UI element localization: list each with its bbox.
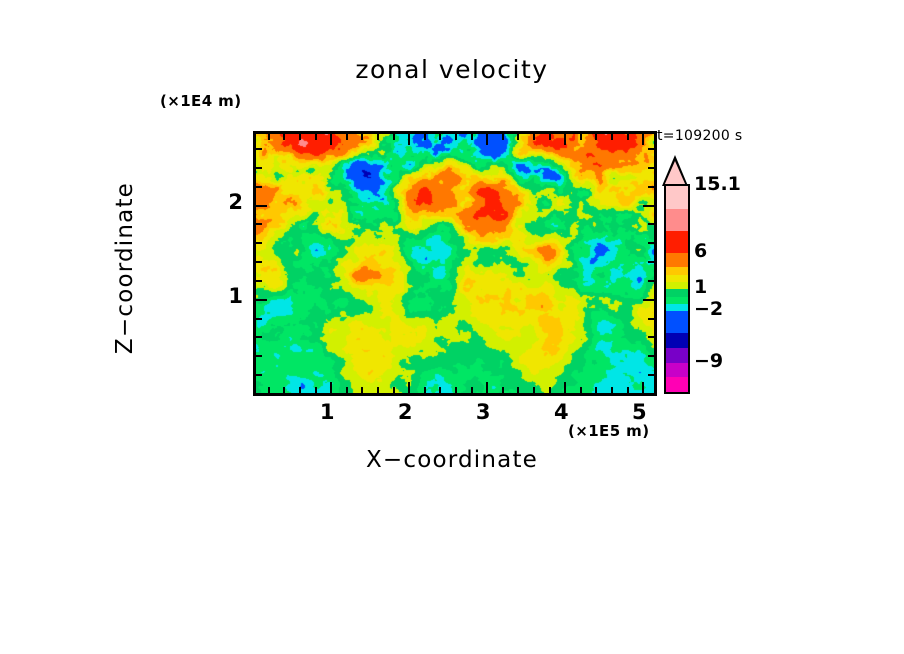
y-tick-label: 2 [219,190,243,214]
y-minor-tick [256,242,262,244]
x-minor-tick [595,134,597,140]
x-minor-tick [533,387,535,393]
x-minor-tick [580,387,582,393]
colorbar-tick-label: 15.1 [694,173,741,195]
y-minor-tick [256,223,262,225]
x-minor-tick [439,134,441,140]
x-minor-tick [346,134,348,140]
y-major-tick [256,205,267,207]
x-minor-tick [361,134,363,140]
x-minor-tick [283,387,285,393]
colorbar-band [666,348,688,363]
y-minor-tick [648,280,654,282]
colorbar-band [666,333,688,348]
x-major-tick [486,134,488,145]
x-minor-tick [439,387,441,393]
y-tick-label: 1 [219,284,243,308]
colorbar-band [666,231,688,253]
x-minor-tick [377,387,379,393]
y-minor-tick [648,148,654,150]
y-axis-title: Z−coordinate [112,68,138,468]
y-minor-tick [256,374,262,376]
x-minor-tick [595,387,597,393]
time-annotation: t=109200 s [657,128,742,144]
x-tick-label: 4 [554,400,569,424]
x-minor-tick [315,134,317,140]
colorbar-band [666,311,688,333]
colorbar-tick-label: 1 [694,276,707,298]
colorbar-tick-label: −2 [694,298,723,320]
x-major-tick [486,382,488,393]
x-axis-title: X−coordinate [253,447,651,473]
y-minor-tick [648,374,654,376]
colorbar-band [666,253,688,268]
y-unit-label: (×1E4 m) [160,92,241,110]
colorbar-band [666,267,688,274]
y-minor-tick [648,186,654,188]
y-minor-tick [256,355,262,357]
y-major-tick [643,205,654,207]
x-major-tick [642,134,644,145]
x-major-tick [564,134,566,145]
x-minor-tick [346,387,348,393]
y-minor-tick [648,167,654,169]
y-minor-tick [256,186,262,188]
y-minor-tick [648,261,654,263]
x-minor-tick [471,134,473,140]
contour-field [256,134,654,393]
colorbar-tick-label: 6 [694,240,707,262]
colorbar-band [666,377,688,392]
x-minor-tick [393,134,395,140]
x-minor-tick [283,134,285,140]
x-minor-tick [611,134,613,140]
x-tick-label: 3 [476,400,491,424]
y-minor-tick [256,148,262,150]
x-minor-tick [377,134,379,140]
y-major-tick [643,299,654,301]
x-minor-tick [424,387,426,393]
heatmap-plot-area [253,131,657,396]
colorbar-band [666,275,688,282]
colorbar-arrow-fill [664,161,686,186]
x-minor-tick [424,134,426,140]
x-minor-tick [580,134,582,140]
x-minor-tick [393,387,395,393]
x-major-tick [564,382,566,393]
x-tick-label: 5 [632,400,647,424]
x-tick-label: 2 [398,400,413,424]
y-minor-tick [648,223,654,225]
x-minor-tick [502,387,504,393]
x-minor-tick [315,387,317,393]
x-minor-tick [361,387,363,393]
x-minor-tick [455,134,457,140]
x-minor-tick [611,387,613,393]
x-major-tick [330,382,332,393]
x-minor-tick [549,134,551,140]
colorbar-band [666,186,688,209]
figure-canvas: zonal velocity (×1E4 m) (×1E5 m) X−coord… [0,0,904,654]
x-minor-tick [299,387,301,393]
y-minor-tick [256,261,262,263]
x-tick-label: 1 [320,400,335,424]
colorbar-tick-label: −9 [694,350,723,372]
x-minor-tick [268,134,270,140]
x-minor-tick [268,387,270,393]
y-minor-tick [648,318,654,320]
x-major-tick [408,134,410,145]
colorbar-band [666,363,688,378]
y-minor-tick [648,355,654,357]
x-major-tick [408,382,410,393]
x-minor-tick [549,387,551,393]
x-minor-tick [502,134,504,140]
y-minor-tick [256,167,262,169]
y-minor-tick [648,242,654,244]
colorbar-band [666,304,688,311]
y-minor-tick [648,336,654,338]
colorbar-band [666,282,688,289]
x-major-tick [330,134,332,145]
y-minor-tick [256,318,262,320]
colorbar-band [666,289,688,296]
colorbar-band [666,209,688,231]
x-minor-tick [299,134,301,140]
x-minor-tick [455,387,457,393]
colorbar-band [666,297,688,304]
x-minor-tick [627,134,629,140]
x-unit-label: (×1E5 m) [568,422,649,440]
x-minor-tick [627,387,629,393]
y-minor-tick [256,280,262,282]
x-minor-tick [517,134,519,140]
x-minor-tick [533,134,535,140]
x-minor-tick [471,387,473,393]
y-major-tick [256,299,267,301]
y-minor-tick [256,336,262,338]
colorbar[interactable] [664,184,690,394]
x-minor-tick [517,387,519,393]
x-major-tick [642,382,644,393]
